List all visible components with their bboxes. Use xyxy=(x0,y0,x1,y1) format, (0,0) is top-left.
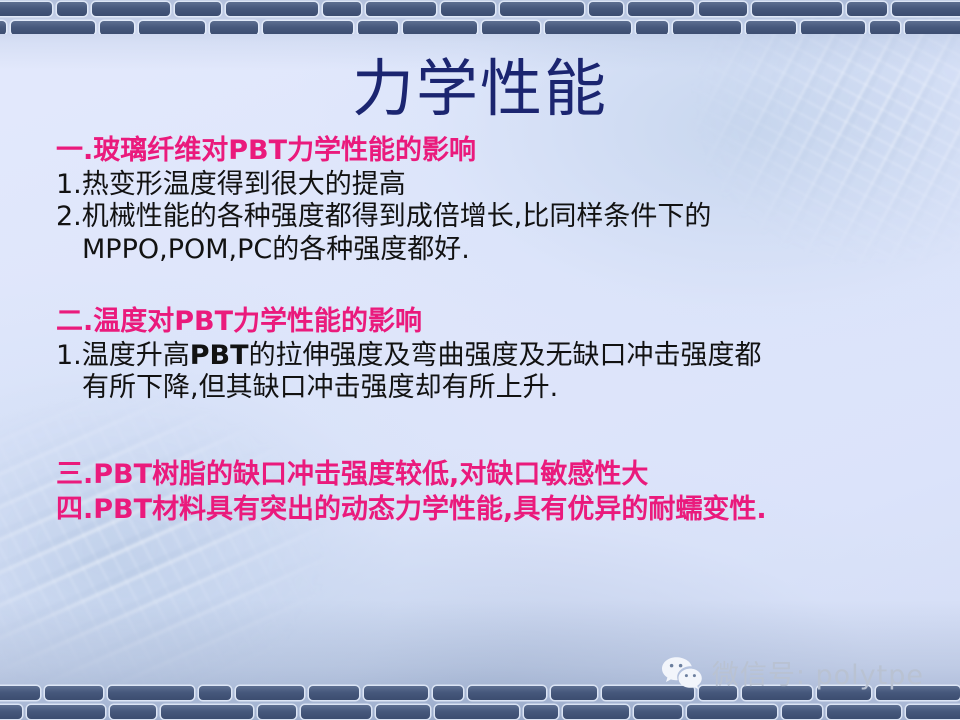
body-line: 1.热变形温度得到很大的提高 xyxy=(56,169,936,201)
brick xyxy=(441,2,495,16)
list-item-suffix: 材料具有突出的动态力学性能,具有优异的耐蠕变性. xyxy=(152,494,767,525)
section-heading-1: 一.玻璃纤维对PBT力学性能的影响 xyxy=(56,135,936,167)
brick xyxy=(545,21,631,34)
brick xyxy=(892,2,960,16)
brick xyxy=(0,2,52,16)
brick xyxy=(301,705,371,719)
list-item-emph: PBT xyxy=(93,494,152,525)
brick xyxy=(847,2,887,16)
brick xyxy=(551,686,597,700)
list-item: 四.PBT材料具有突出的动态力学性能,具有优异的耐蠕变性. xyxy=(56,492,936,528)
brick xyxy=(699,2,747,16)
brick xyxy=(482,21,540,34)
section-spacer xyxy=(56,266,936,306)
watermark-text: 微信号: polytpe xyxy=(712,662,924,689)
brick xyxy=(524,705,558,719)
brick xyxy=(376,705,430,719)
brick xyxy=(57,2,87,16)
brick xyxy=(175,2,221,16)
body-line: 2.机械性能的各种强度都得到成倍增长,比同样条件下的 xyxy=(56,201,936,233)
brick xyxy=(108,686,194,700)
body-line: 有所下降,但其缺口冲击强度却有所上升. xyxy=(56,372,936,404)
brick xyxy=(11,21,95,34)
brick xyxy=(752,2,842,16)
brick xyxy=(236,686,304,700)
brick xyxy=(309,686,359,700)
section-spacer xyxy=(56,405,936,445)
body-line-emph: PBT xyxy=(190,340,249,371)
body-line-suffix: 的拉伸强度及弯曲强度及无缺口冲击强度都 xyxy=(249,340,762,371)
brick xyxy=(782,705,822,719)
brick xyxy=(628,2,694,16)
slide-body: 一.玻璃纤维对PBT力学性能的影响 1.热变形温度得到很大的提高 2.机械性能的… xyxy=(56,135,936,528)
slide-title: 力学性能 xyxy=(0,58,960,120)
list-item-emph: PBT xyxy=(93,459,152,490)
brick xyxy=(827,705,901,719)
section-heading-1-emph: PBT xyxy=(228,135,287,166)
brick xyxy=(589,2,623,16)
body-line: 1.温度升高PBT的拉伸强度及弯曲强度及无缺口冲击强度都 xyxy=(56,340,936,372)
section-spacer xyxy=(56,445,936,457)
brick xyxy=(435,705,519,719)
brick xyxy=(110,705,156,719)
brick xyxy=(905,21,960,34)
section-heading-2-prefix: 二.温度对 xyxy=(56,306,174,337)
section-heading-1-suffix: 力学性能的影响 xyxy=(287,135,476,166)
body-line: MPPO,POM,PC的各种强度都好. xyxy=(56,234,936,266)
brick xyxy=(364,686,428,700)
section-heading-1-prefix: 一.玻璃纤维对 xyxy=(56,135,228,166)
brick xyxy=(746,21,796,34)
list-item-prefix: 四. xyxy=(56,494,93,525)
brick xyxy=(139,21,205,34)
brick xyxy=(500,2,584,16)
brick-row xyxy=(0,21,960,34)
brick xyxy=(636,21,668,34)
brick xyxy=(403,21,477,34)
watermark: 微信号: polytpe xyxy=(661,656,924,694)
brick xyxy=(210,21,258,34)
brick xyxy=(468,686,546,700)
list-item-suffix: 树脂的缺口冲击强度较低,对缺口敏感性大 xyxy=(152,459,648,490)
brick xyxy=(366,2,436,16)
brick xyxy=(161,705,253,719)
brick xyxy=(27,705,105,719)
list-item-prefix: 三. xyxy=(56,459,93,490)
brick xyxy=(323,2,361,16)
brick xyxy=(92,2,170,16)
brick xyxy=(263,21,353,34)
brick-row xyxy=(0,705,960,719)
brick xyxy=(199,686,231,700)
brick xyxy=(906,705,960,719)
section-heading-2-suffix: 力学性能的影响 xyxy=(233,306,422,337)
section-heading-2-emph: PBT xyxy=(174,306,233,337)
body-line-prefix: 1.温度升高 xyxy=(56,340,190,371)
brick xyxy=(0,21,6,34)
brick xyxy=(870,21,900,34)
brick xyxy=(801,21,865,34)
brick xyxy=(45,686,103,700)
section-heading-2: 二.温度对PBT力学性能的影响 xyxy=(56,306,936,338)
brick xyxy=(258,705,296,719)
brick-border-top xyxy=(0,0,960,34)
brick xyxy=(687,705,777,719)
brick xyxy=(673,21,741,34)
brick xyxy=(563,705,629,719)
brick xyxy=(226,2,318,16)
list-item: 三.PBT树脂的缺口冲击强度较低,对缺口敏感性大 xyxy=(56,457,936,493)
slide-canvas: 力学性能 一.玻璃纤维对PBT力学性能的影响 1.热变形温度得到很大的提高 2.… xyxy=(0,0,960,720)
brick-row xyxy=(0,2,960,16)
brick xyxy=(100,21,134,34)
brick xyxy=(433,686,463,700)
brick xyxy=(634,705,682,719)
wechat-icon xyxy=(661,656,703,694)
brick xyxy=(0,686,40,700)
brick xyxy=(358,21,398,34)
brick xyxy=(0,705,22,719)
